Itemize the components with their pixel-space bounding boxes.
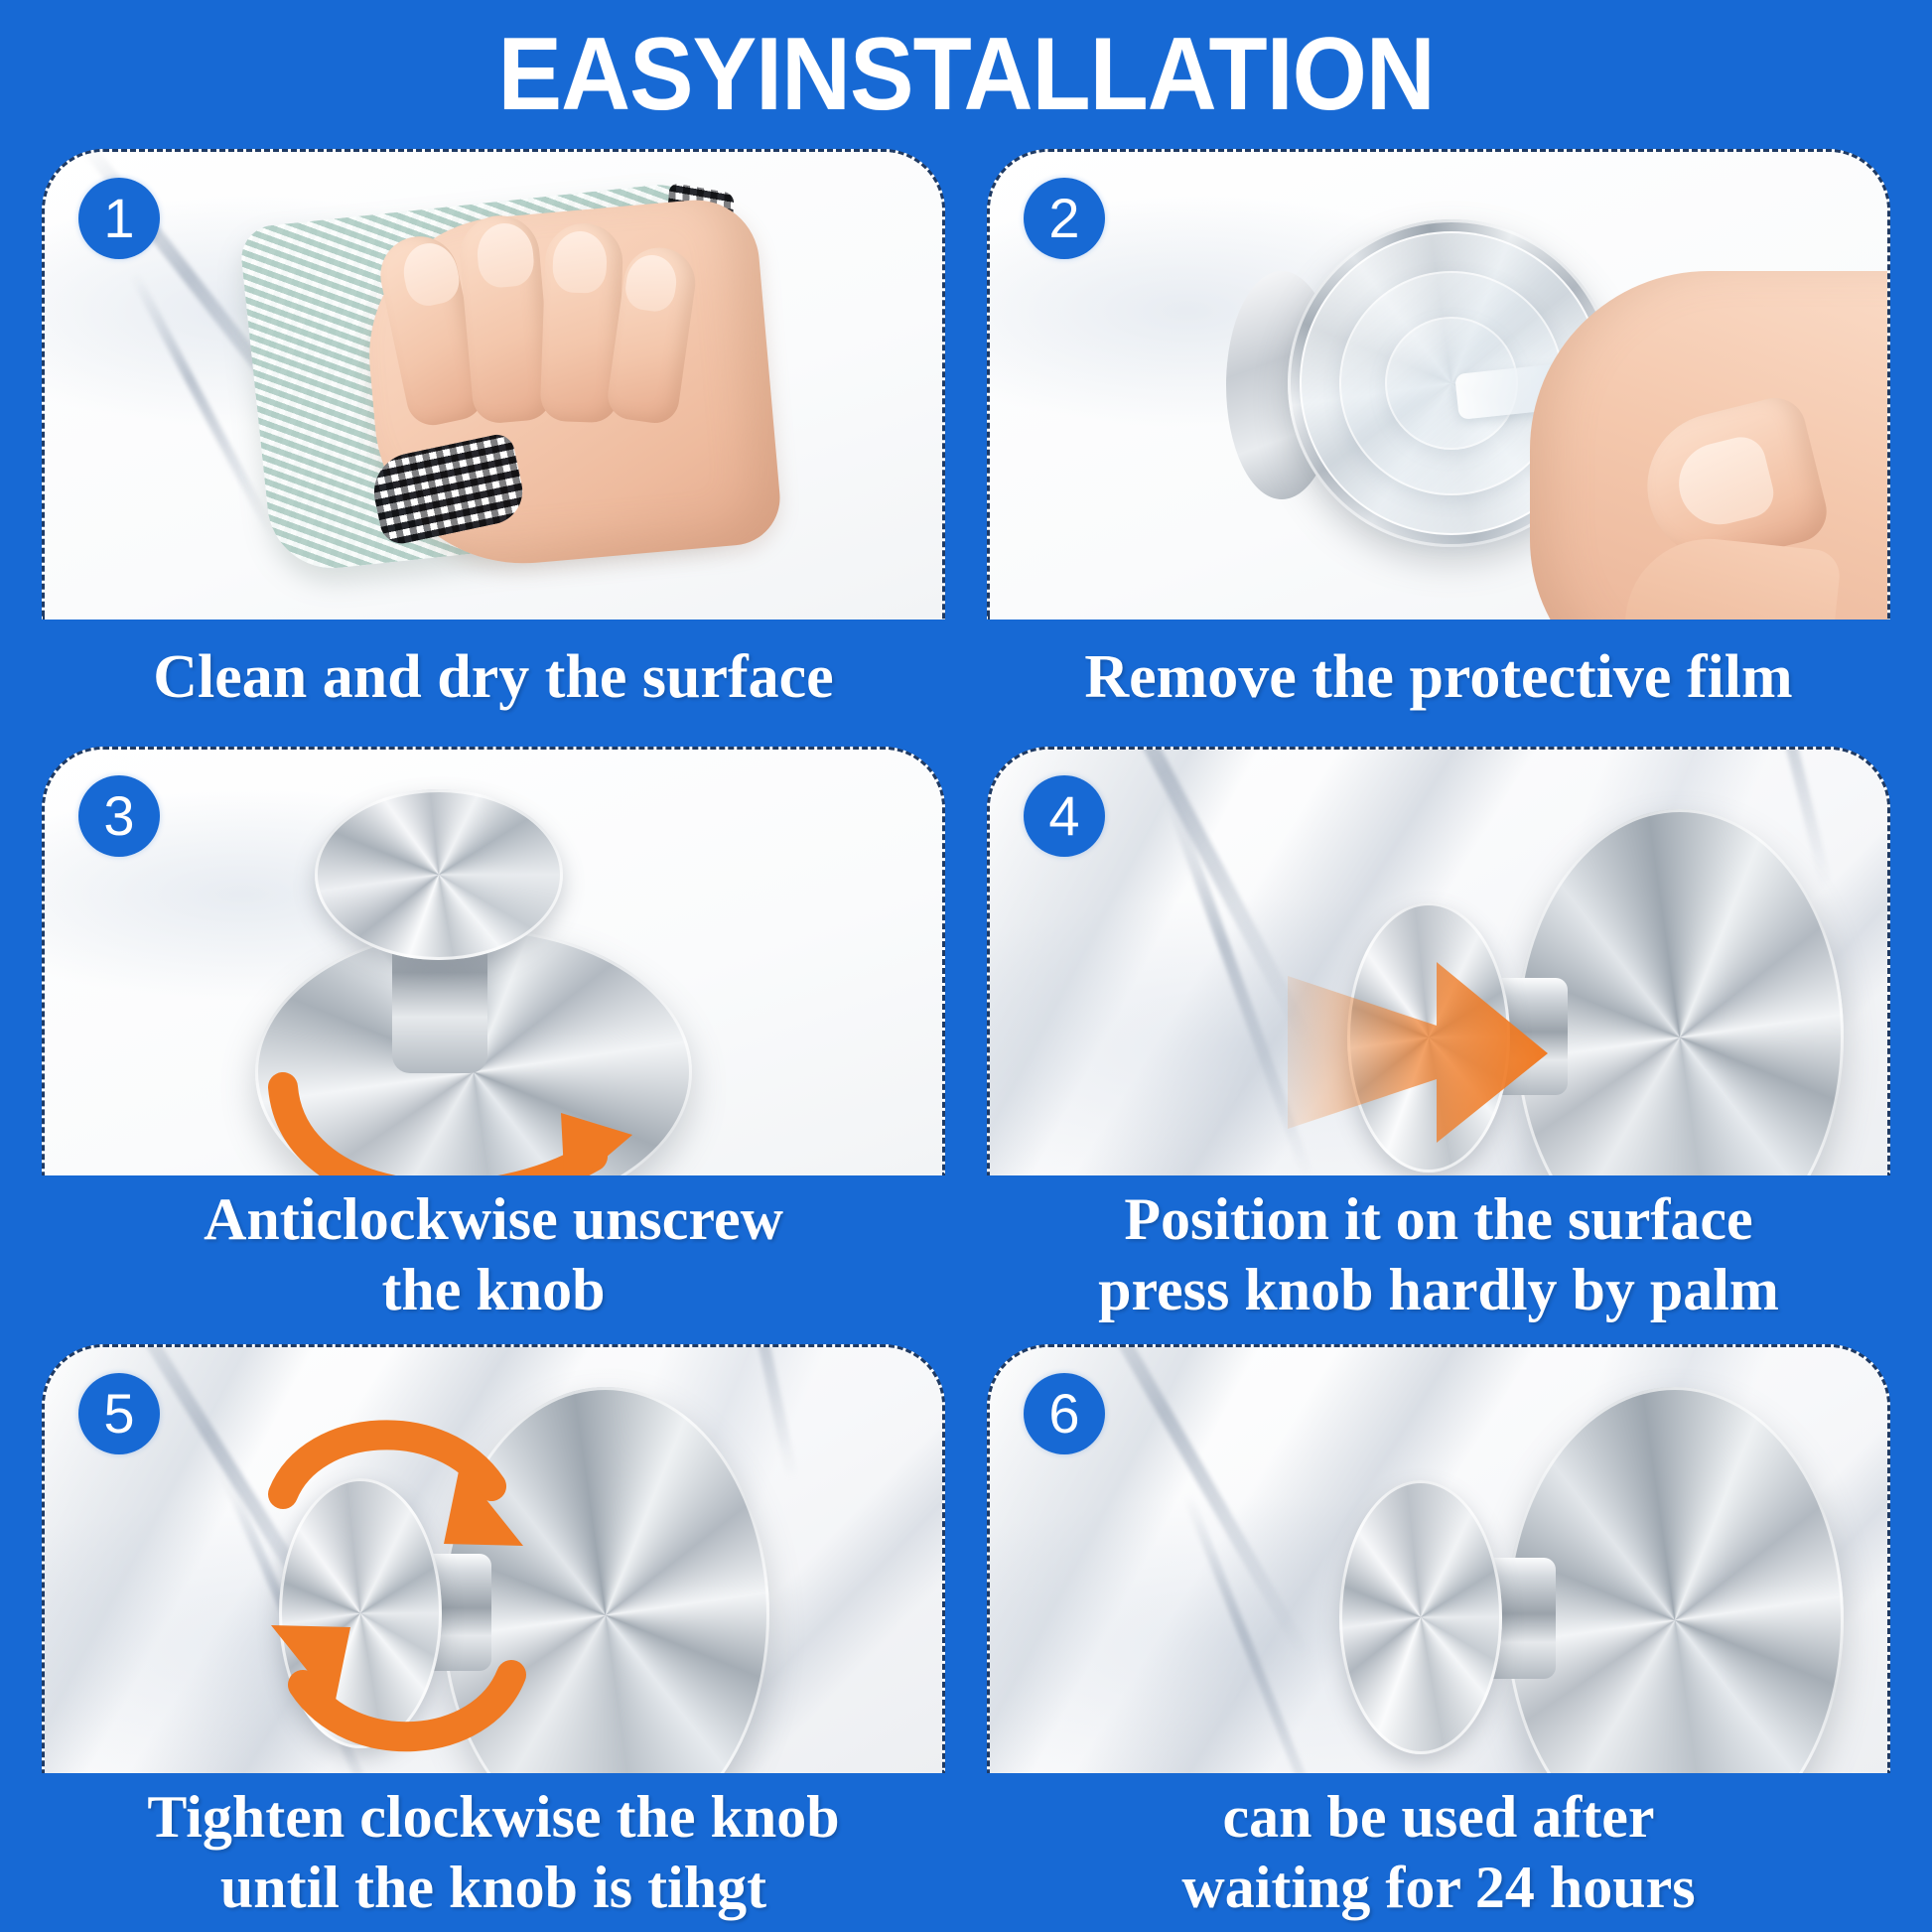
caption-line: can be used after xyxy=(1223,1782,1655,1853)
step-2-photo: 2 xyxy=(987,149,1890,620)
caption-line: Clean and dry the surface xyxy=(153,645,833,710)
caption-line: Tighten clockwise the knob xyxy=(147,1782,839,1853)
step-4-caption: Position it on the surface press knob ha… xyxy=(987,1175,1890,1334)
caption-line: the knob xyxy=(381,1255,605,1325)
step-card-1: 1 Clean and dry the surface xyxy=(42,149,945,737)
step-6-caption: can be used after waiting for 24 hours xyxy=(987,1773,1890,1932)
knob-scene xyxy=(990,1347,1887,1773)
step-badge-3: 3 xyxy=(78,775,160,857)
step-number: 2 xyxy=(1048,191,1079,246)
step-1-photo: 1 xyxy=(42,149,945,620)
step-number: 4 xyxy=(1048,788,1079,844)
knob-scene xyxy=(45,1347,942,1773)
step-2-caption: Remove the protective film xyxy=(987,620,1890,737)
step-badge-5: 5 xyxy=(78,1373,160,1454)
step-5-caption: Tighten clockwise the knob until the kno… xyxy=(42,1773,945,1932)
caption-line: waiting for 24 hours xyxy=(1181,1853,1695,1923)
finger-graphic xyxy=(1617,530,1843,620)
caption-line: Remove the protective film xyxy=(1084,645,1792,710)
step-card-4: 4 Position it on the surface press knob … xyxy=(987,747,1890,1334)
step-card-3: 3 Anticlockwise unscrew the knob xyxy=(42,747,945,1334)
step-badge-1: 1 xyxy=(78,178,160,259)
hand-graphic xyxy=(1530,271,1890,620)
header-banner: EASYINSTALLATION xyxy=(0,0,1932,149)
steps-grid: 1 Clean and dry the surface xyxy=(0,149,1932,1932)
knob-cap xyxy=(279,1478,442,1748)
step-number: 5 xyxy=(103,1386,134,1442)
page-title: EASYINSTALLATION xyxy=(497,23,1434,126)
step-number: 1 xyxy=(103,191,134,246)
knob-cap xyxy=(1339,1480,1502,1754)
step-3-photo: 3 xyxy=(42,747,945,1175)
caption-line: Position it on the surface xyxy=(1124,1184,1752,1255)
step-1-caption: Clean and dry the surface xyxy=(42,620,945,737)
step-3-caption: Anticlockwise unscrew the knob xyxy=(42,1175,945,1334)
caption-line: Anticlockwise unscrew xyxy=(204,1184,783,1255)
knob-scene xyxy=(990,750,1887,1175)
knob-base-plate xyxy=(1506,1387,1844,1773)
step-number: 6 xyxy=(1048,1386,1079,1442)
knob-cap xyxy=(315,789,563,960)
knob-scene xyxy=(45,750,942,1175)
step-card-6: 6 can be used after waiting for 24 hours xyxy=(987,1344,1890,1932)
caption-line: press knob hardly by palm xyxy=(1098,1255,1779,1325)
step-badge-4: 4 xyxy=(1024,775,1105,857)
step-badge-6: 6 xyxy=(1024,1373,1105,1454)
knob-cap xyxy=(1347,902,1510,1173)
caption-line: until the knob is tihgt xyxy=(220,1853,766,1923)
fingernail-graphic xyxy=(552,230,608,294)
step-5-photo: 5 xyxy=(42,1344,945,1773)
step-card-5: 5 Tighten clockwise the knob until the k… xyxy=(42,1344,945,1932)
step-4-photo: 4 xyxy=(987,747,1890,1175)
step-number: 3 xyxy=(103,788,134,844)
step-6-photo: 6 xyxy=(987,1344,1890,1773)
step-card-2: 2 Remove the protective film xyxy=(987,149,1890,737)
step-badge-2: 2 xyxy=(1024,178,1105,259)
